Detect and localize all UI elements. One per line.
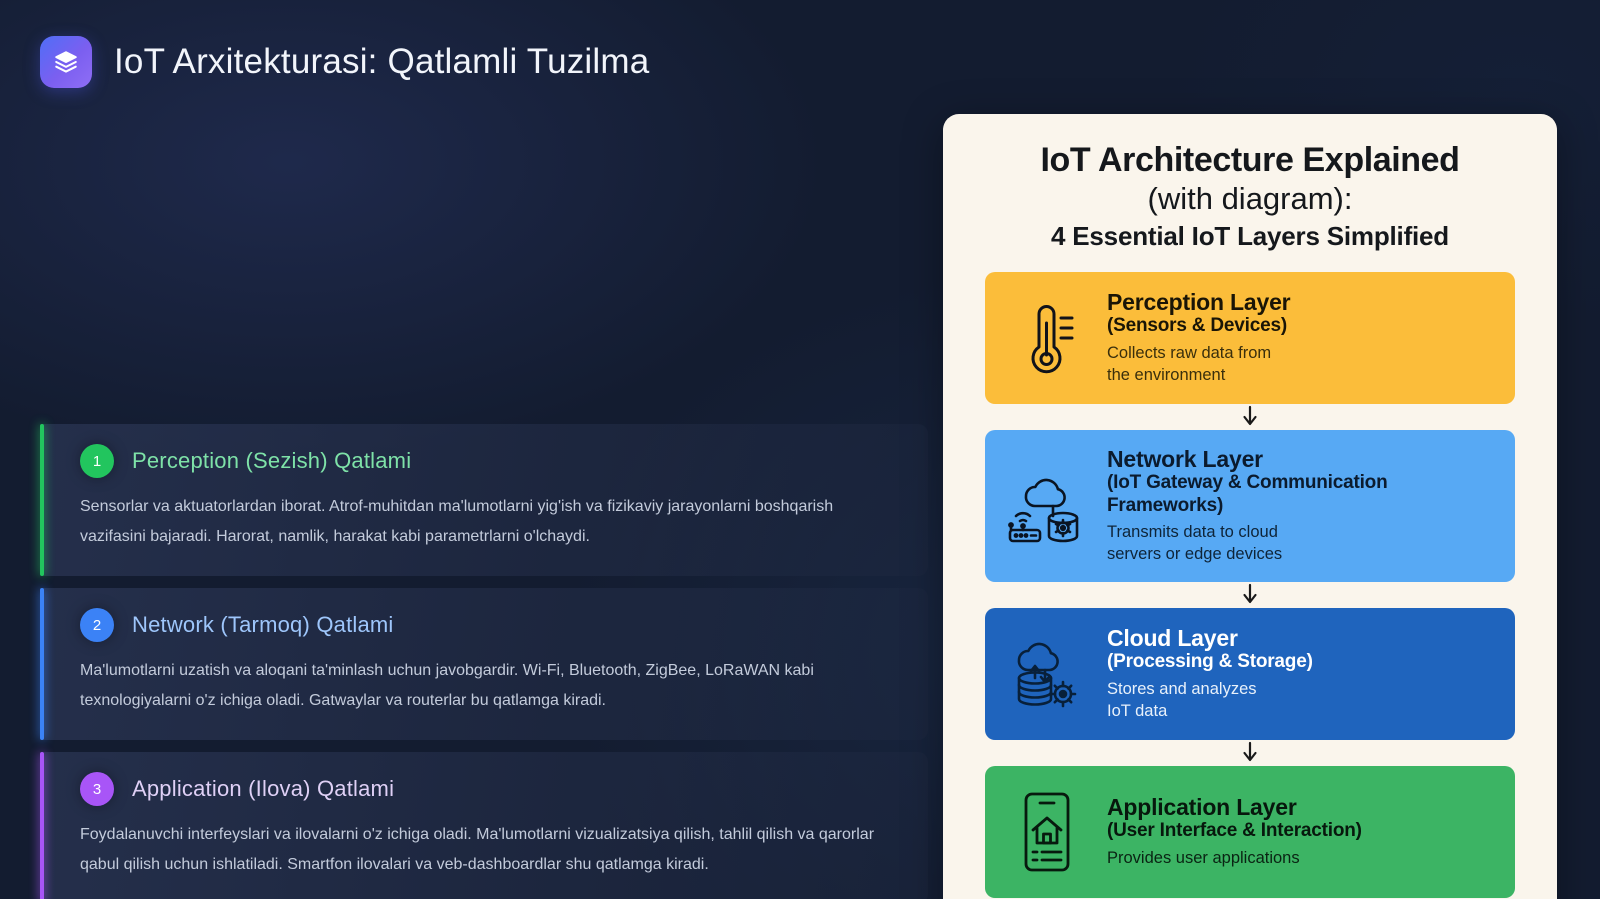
infographic-title: IoT Architecture Explained (with diagram…: [985, 140, 1515, 256]
stage-description: Provides user applications: [1107, 848, 1497, 870]
layer-card-list: 1 Perception (Sezish) Qatlami Sensorlar …: [40, 424, 928, 899]
card-number-badge: 3: [80, 772, 114, 806]
cloud-database-icon: [1003, 636, 1089, 712]
stage-text: Network Layer (IoT Gateway & Communicati…: [1107, 446, 1497, 566]
list-item[interactable]: 1 Perception (Sezish) Qatlami Sensorlar …: [40, 424, 928, 576]
card-title: Network (Tarmoq) Qatlami: [132, 612, 394, 638]
layer-stack: Perception Layer (Sensors & Devices) Col…: [985, 272, 1515, 898]
stage-subtitle: (User Interface & Interaction): [1107, 820, 1497, 842]
stage-description: Collects raw data from the environment: [1107, 343, 1497, 387]
arrow-down-icon: [985, 582, 1515, 608]
card-header: 2 Network (Tarmoq) Qatlami: [80, 608, 902, 642]
infographic-title-line3: 4 Essential IoT Layers Simplified: [985, 218, 1515, 256]
list-item[interactable]: 3 Application (Ilova) Qatlami Foydalanuv…: [40, 752, 928, 899]
card-title: Application (Ilova) Qatlami: [132, 776, 394, 802]
stage-name: Perception Layer: [1107, 289, 1497, 316]
stage-application-layer[interactable]: Application Layer (User Interface & Inte…: [985, 766, 1515, 898]
infographic-title-line1: IoT Architecture Explained: [985, 140, 1515, 180]
thermometer-icon: [1003, 301, 1089, 375]
stage-name: Network Layer: [1107, 446, 1497, 473]
stage-description: Transmits data to cloud servers or edge …: [1107, 522, 1497, 566]
stage-subtitle: (Processing & Storage): [1107, 651, 1497, 673]
infographic-title-line2: (with diagram):: [985, 180, 1515, 218]
card-number-badge: 2: [80, 608, 114, 642]
stage-subtitle: (Sensors & Devices): [1107, 315, 1497, 337]
stage-text: Perception Layer (Sensors & Devices) Col…: [1107, 289, 1497, 387]
smartphone-home-icon: [1003, 790, 1089, 874]
stage-subtitle: (IoT Gateway & Communication Frameworks): [1107, 472, 1497, 517]
layers-icon: [40, 36, 92, 88]
infographic-panel: IoT Architecture Explained (with diagram…: [943, 114, 1557, 899]
page-title: IoT Arxitekturasi: Qatlamli Tuzilma: [114, 42, 649, 82]
card-header: 3 Application (Ilova) Qatlami: [80, 772, 902, 806]
card-description: Ma'lumotlarni uzatish va aloqani ta'minl…: [80, 656, 900, 716]
stage-name: Application Layer: [1107, 794, 1497, 821]
card-description: Sensorlar va aktuatorlardan iborat. Atro…: [80, 492, 900, 552]
stage-text: Application Layer (User Interface & Inte…: [1107, 794, 1497, 870]
stage-name: Cloud Layer: [1107, 625, 1497, 652]
cloud-router-icon: [1003, 468, 1089, 544]
arrow-down-icon: [985, 740, 1515, 766]
stage-description: Stores and analyzes IoT data: [1107, 679, 1497, 723]
card-description: Foydalanuvchi interfeyslari va ilovalarn…: [80, 820, 900, 880]
card-number-badge: 1: [80, 444, 114, 478]
stage-perception-layer[interactable]: Perception Layer (Sensors & Devices) Col…: [985, 272, 1515, 404]
arrow-down-icon: [985, 404, 1515, 430]
stage-network-layer[interactable]: Network Layer (IoT Gateway & Communicati…: [985, 430, 1515, 582]
card-header: 1 Perception (Sezish) Qatlami: [80, 444, 902, 478]
stage-text: Cloud Layer (Processing & Storage) Store…: [1107, 625, 1497, 723]
card-title: Perception (Sezish) Qatlami: [132, 448, 411, 474]
stage-cloud-layer[interactable]: Cloud Layer (Processing & Storage) Store…: [985, 608, 1515, 740]
page-header: IoT Arxitekturasi: Qatlamli Tuzilma: [40, 36, 649, 88]
list-item[interactable]: 2 Network (Tarmoq) Qatlami Ma'lumotlarni…: [40, 588, 928, 740]
